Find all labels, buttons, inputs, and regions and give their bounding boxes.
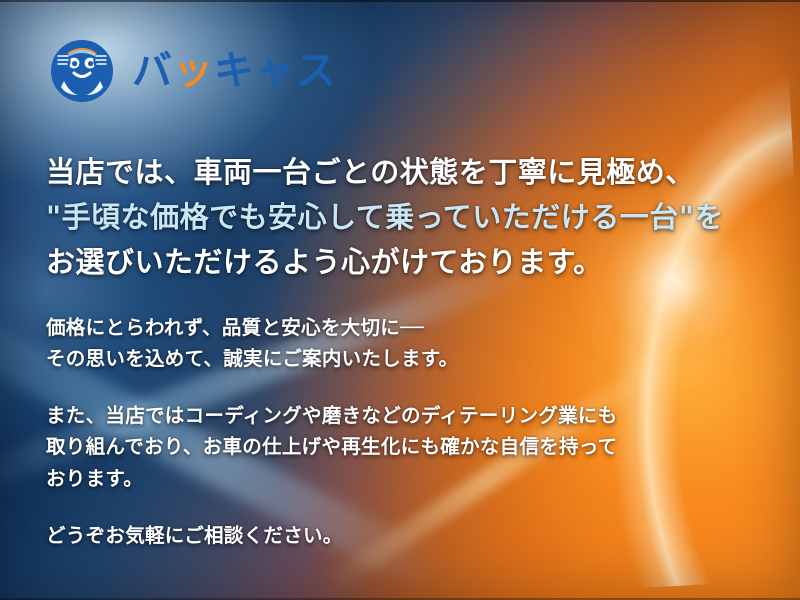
paragraph-contact-line-1: どうぞお気軽にご相談ください。	[46, 520, 800, 552]
headline-line-3: お選びいただけるよう心がけております。	[46, 240, 800, 285]
banner-content: バッキャス 当店では、車両一台ごとの状態を丁寧に見極め、 "手頃な価格でも安心し…	[0, 0, 800, 600]
paragraph-contact: どうぞお気軽にご相談ください。	[46, 520, 800, 552]
wordmark-accent: ッ	[173, 48, 214, 94]
headline-line-2-quoted: "手頃な価格でも安心して乗っていただける一台"を	[46, 195, 800, 240]
headline-line-1: 当店では、車両一台ごとの状態を丁寧に見極め、	[46, 150, 800, 195]
brand-logo: バッキャス	[46, 32, 800, 106]
steering-wheel-mascot-icon	[46, 35, 118, 103]
wordmark-part2: キャス	[214, 48, 337, 94]
paragraph-detailing-line-1: また、当店ではコーディングや磨きなどのディテーリング業にも	[46, 400, 800, 432]
paragraph-detailing-line-2: 取り組んでおり、お車の仕上げや再生化にも確かな自信を持って	[46, 431, 800, 463]
paragraph-detailing-line-3: おります。	[46, 463, 800, 495]
headline: 当店では、車両一台ごとの状態を丁寧に見極め、 "手頃な価格でも安心して乗っていた…	[46, 150, 800, 286]
paragraph-quality: 価格にとらわれず、品質と安心を大切に── その思いを込めて、誠実にご案内いたしま…	[46, 312, 800, 375]
paragraph-quality-line-1: 価格にとらわれず、品質と安心を大切に──	[46, 312, 800, 344]
promotional-banner: バッキャス 当店では、車両一台ごとの状態を丁寧に見極め、 "手頃な価格でも安心し…	[0, 0, 800, 600]
paragraph-detailing: また、当店ではコーディングや磨きなどのディテーリング業にも 取り組んでおり、お車…	[46, 400, 800, 495]
wordmark-part1: バ	[132, 48, 173, 94]
paragraph-quality-line-2: その思いを込めて、誠実にご案内いたします。	[46, 343, 800, 375]
brand-wordmark: バッキャス	[132, 51, 337, 91]
